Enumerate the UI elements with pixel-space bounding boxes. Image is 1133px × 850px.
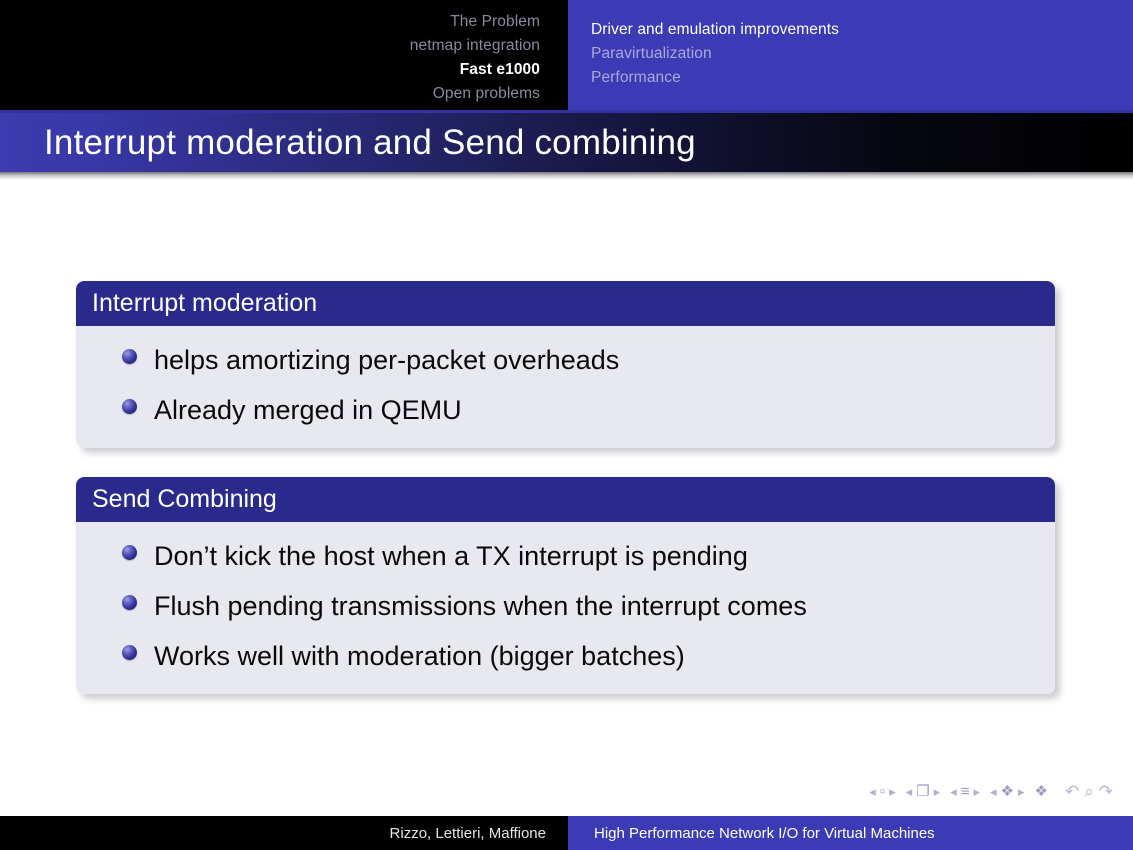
nav-item-fast-e1000[interactable]: Fast e1000 (0, 58, 540, 82)
bullet-sphere-icon (122, 399, 137, 414)
header-section-nav: The Problem netmap integration Fast e100… (0, 0, 568, 110)
title-gradient-band: Interrupt moderation and Send combining (0, 113, 1133, 172)
previous-slide-arrow-icon[interactable]: ◂ (869, 785, 876, 798)
bullet-sphere-icon (122, 545, 137, 560)
slide-nav-group[interactable]: ◂ ▫ ▸ (869, 784, 895, 799)
page-title: Interrupt moderation and Send combining (44, 123, 696, 163)
list-item: Already merged in QEMU (76, 388, 1055, 432)
bullet-text: helps amortizing per-packet overheads (154, 338, 619, 382)
frame-nav-group[interactable]: ◂ ❐ ▸ (906, 784, 941, 799)
back-icon[interactable]: ↶ (1065, 783, 1079, 800)
footer-talk-title: High Performance Network I/O for Virtual… (568, 816, 1133, 850)
list-item: helps amortizing per-packet overheads (76, 338, 1055, 382)
previous-section-arrow-icon[interactable]: ◂ (990, 785, 997, 798)
section-nav-group[interactable]: ◂ ❖ ▸ (990, 784, 1025, 799)
block-send-combining: Send Combining Don’t kick the host when … (76, 477, 1055, 694)
list-item: Flush pending transmissions when the int… (76, 584, 1055, 628)
next-subsection-arrow-icon[interactable]: ▸ (973, 785, 980, 798)
next-slide-arrow-icon[interactable]: ▸ (889, 785, 896, 798)
footer-authors: Rizzo, Lettieri, Maffione (0, 816, 568, 850)
slide-header: The Problem netmap integration Fast e100… (0, 0, 1133, 110)
search-icon[interactable]: ⌕ (1084, 783, 1094, 800)
next-frame-arrow-icon[interactable]: ▸ (934, 785, 941, 798)
block-body-send-combining: Don’t kick the host when a TX interrupt … (76, 522, 1055, 694)
list-item: Works well with moderation (bigger batch… (76, 634, 1055, 678)
previous-frame-arrow-icon[interactable]: ◂ (906, 785, 913, 798)
bullet-sphere-icon (122, 595, 137, 610)
block-title-send-combining: Send Combining (76, 477, 1055, 522)
nav-item-paravirtualization[interactable]: Paravirtualization (591, 42, 1133, 66)
bullet-text: Don’t kick the host when a TX interrupt … (154, 534, 748, 578)
previous-subsection-arrow-icon[interactable]: ◂ (950, 785, 957, 798)
next-section-arrow-icon[interactable]: ▸ (1018, 785, 1025, 798)
block-interrupt-moderation: Interrupt moderation helps amortizing pe… (76, 281, 1055, 448)
header-subsection-nav: Driver and emulation improvements Paravi… (568, 0, 1133, 110)
subsection-glyph-icon[interactable]: ≡ (961, 784, 970, 799)
frame-glyph-icon[interactable]: ❐ (916, 784, 929, 799)
list-item: Don’t kick the host when a TX interrupt … (76, 534, 1055, 578)
bullet-text: Flush pending transmissions when the int… (154, 584, 807, 628)
beamer-navigation-symbols[interactable]: ◂ ▫ ▸ ◂ ❐ ▸ ◂ ≡ ▸ ◂ ❖ ▸ ❖ ↶ ⌕ ↷ (869, 778, 1115, 804)
title-drop-shadow (0, 172, 1133, 180)
bullet-text: Already merged in QEMU (154, 388, 462, 432)
bullet-sphere-icon (122, 349, 137, 364)
block-title-interrupt-moderation: Interrupt moderation (76, 281, 1055, 326)
presentation-glyph-icon[interactable]: ❖ (1035, 784, 1048, 799)
nav-item-open-problems[interactable]: Open problems (0, 82, 540, 106)
nav-item-netmap-integration[interactable]: netmap integration (0, 34, 540, 58)
slide-glyph-icon[interactable]: ▫ (880, 784, 885, 799)
section-glyph-icon[interactable]: ❖ (1001, 784, 1014, 799)
subsection-nav-group[interactable]: ◂ ≡ ▸ (950, 784, 980, 799)
slide-footer: Rizzo, Lettieri, Maffione High Performan… (0, 816, 1133, 850)
slide-title-bar: Interrupt moderation and Send combining (0, 110, 1133, 178)
nav-item-driver-and-emulation-improvements[interactable]: Driver and emulation improvements (591, 18, 1133, 42)
forward-icon[interactable]: ↷ (1099, 783, 1113, 800)
bullet-text: Works well with moderation (bigger batch… (154, 634, 685, 678)
nav-item-the-problem[interactable]: The Problem (0, 10, 540, 34)
nav-item-performance[interactable]: Performance (591, 66, 1133, 90)
bullet-sphere-icon (122, 645, 137, 660)
block-body-interrupt-moderation: helps amortizing per-packet overheads Al… (76, 326, 1055, 448)
